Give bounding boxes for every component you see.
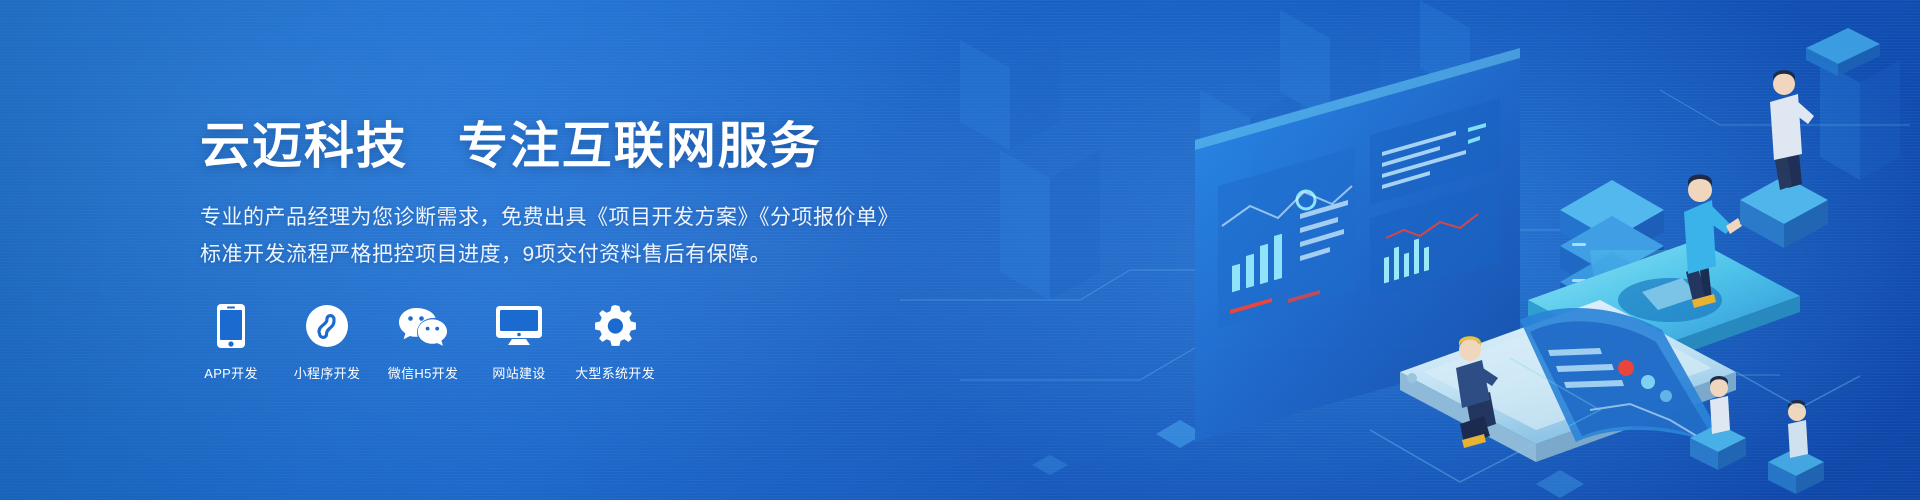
floating-card-top xyxy=(1806,28,1880,76)
service-item-wechat-h5[interactable]: 微信H5开发 xyxy=(392,303,454,382)
service-item-app[interactable]: APP开发 xyxy=(200,303,262,382)
service-label: APP开发 xyxy=(204,363,258,382)
banner-content: 云迈科技 专注互联网服务 专业的产品经理为您诊断需求，免费出具《项目开发方案》《… xyxy=(200,0,960,500)
service-label: 小程序开发 xyxy=(294,363,361,382)
headline-brand: 云迈科技 xyxy=(200,118,408,174)
mini-program-icon xyxy=(306,303,348,349)
page-title: 云迈科技 专注互联网服务 xyxy=(200,118,960,174)
mobile-phone-icon xyxy=(217,303,245,349)
wechat-icon xyxy=(399,303,447,349)
subtitle-line-2: 标准开发流程严格把控项目进度，9项交付资料售后有保障。 xyxy=(200,237,960,274)
service-list: APP开发 小程序开发 xyxy=(200,303,960,382)
service-label: 微信H5开发 xyxy=(388,363,458,382)
monitor-icon xyxy=(496,303,542,349)
person-on-cube xyxy=(1740,70,1828,248)
service-label: 网站建设 xyxy=(492,363,545,382)
service-item-miniprogram[interactable]: 小程序开发 xyxy=(296,303,358,382)
subtitle-block: 专业的产品经理为您诊断需求，免费出具《项目开发方案》《分项报价单》 标准开发流程… xyxy=(200,200,960,273)
headline-tagline: 专注互联网服务 xyxy=(458,118,822,174)
hero-banner: 云迈科技 专注互联网服务 专业的产品经理为您诊断需求，免费出具《项目开发方案》《… xyxy=(0,0,1920,500)
gear-icon xyxy=(594,303,636,349)
subtitle-line-1: 专业的产品经理为您诊断需求，免费出具《项目开发方案》《分项报价单》 xyxy=(200,200,960,237)
service-item-website[interactable]: 网站建设 xyxy=(488,303,550,382)
service-label: 大型系统开发 xyxy=(575,363,655,382)
isometric-illustration xyxy=(900,0,1920,500)
service-item-system[interactable]: 大型系统开发 xyxy=(584,303,646,382)
